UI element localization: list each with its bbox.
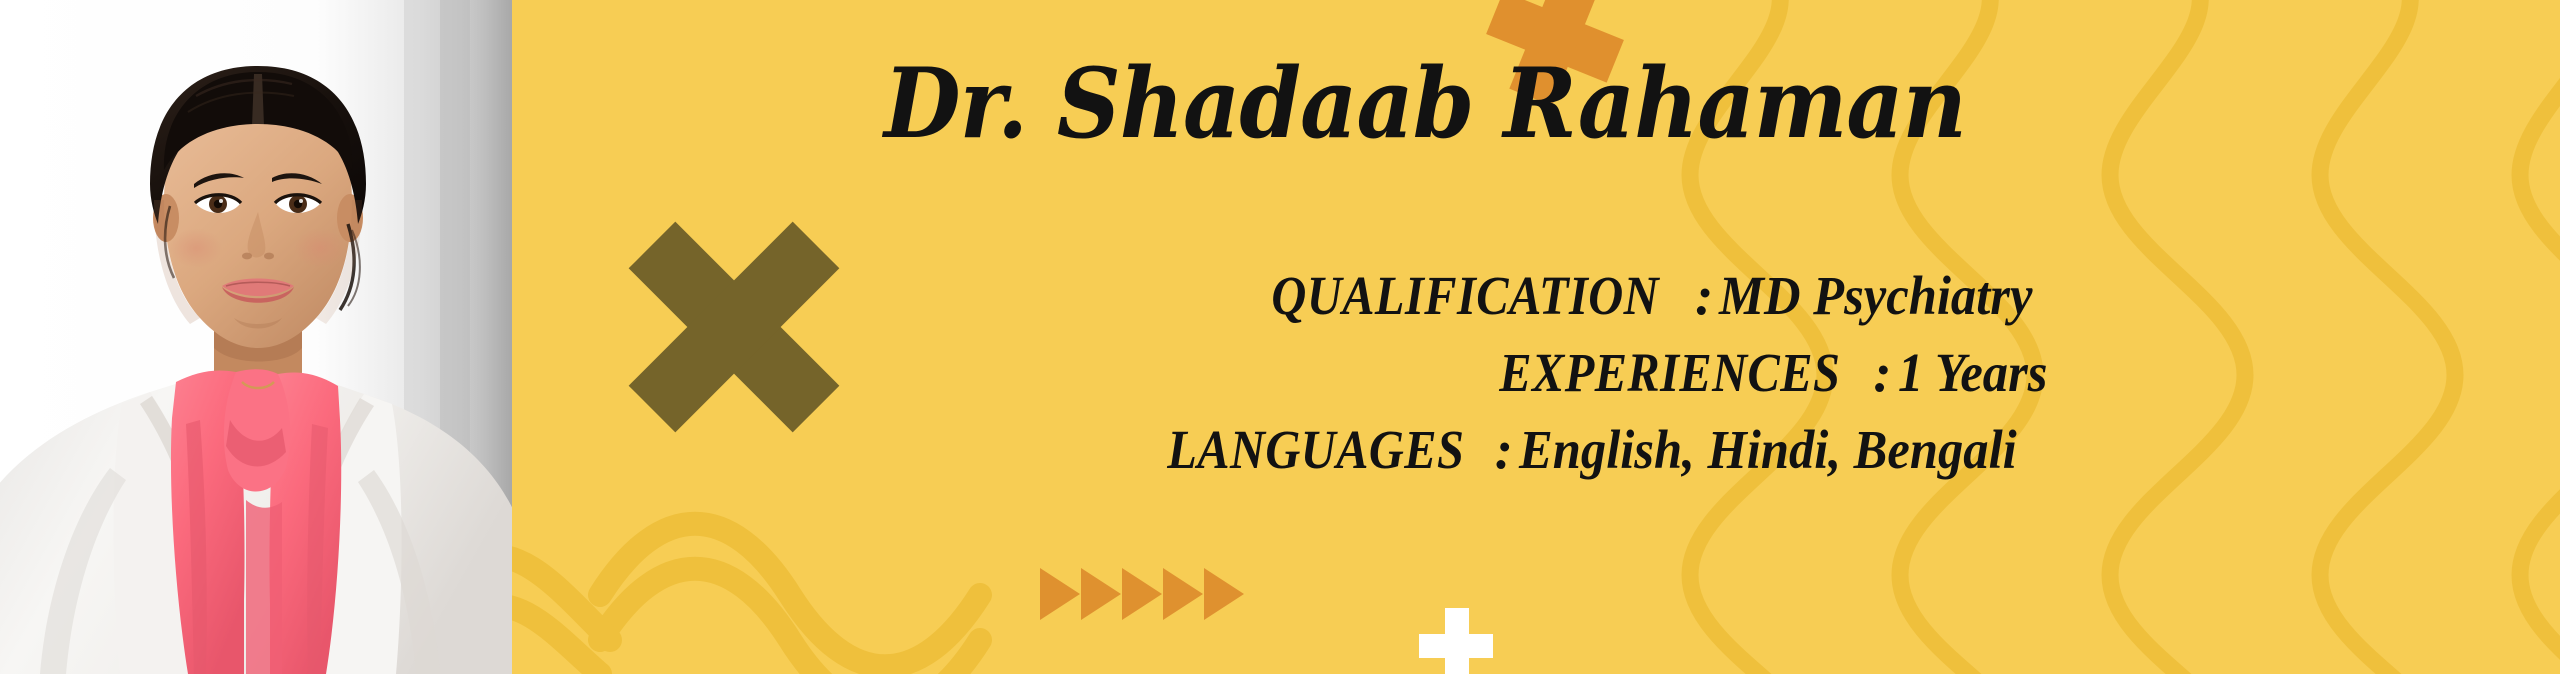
- white-plus-bar-vertical: [1445, 608, 1469, 674]
- triangle-arrow-icon: [1081, 568, 1121, 620]
- x-cross-icon: [620, 213, 848, 441]
- triangle-arrow-row: [1040, 568, 1244, 620]
- doctor-portrait-photo: [0, 0, 512, 674]
- triangle-arrow-icon: [1122, 568, 1162, 620]
- triangle-arrow-icon: [1163, 568, 1203, 620]
- doctor-profile-banner: Dr. Shadaab Rahaman QUALIFICATION:MD Psy…: [0, 0, 2560, 674]
- medical-plus-icon: [1419, 608, 1493, 674]
- triangle-arrow-icon: [1040, 568, 1080, 620]
- triangle-arrow-icon: [1204, 568, 1244, 620]
